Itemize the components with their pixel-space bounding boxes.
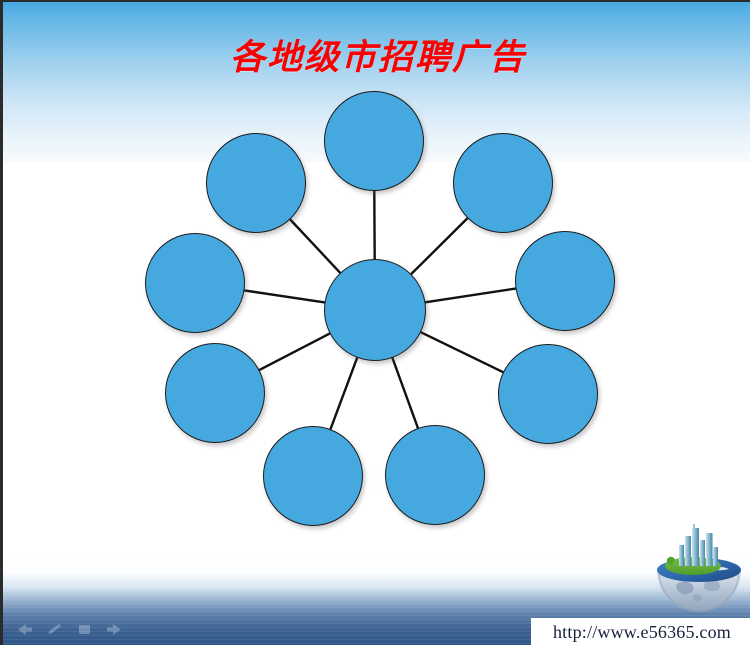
watermark-url: http://www.e56365.com (531, 618, 750, 645)
node-bottom-left[interactable] (263, 426, 363, 526)
node-bottom-right[interactable] (385, 425, 485, 525)
node-left[interactable] (145, 233, 245, 333)
link-center-to-node-upper-right (410, 218, 468, 275)
link-center-to-node-right (424, 288, 516, 302)
node-top[interactable] (324, 91, 424, 191)
radial-diagram (3, 2, 750, 645)
link-center-to-node-lower-left (258, 333, 330, 370)
node-right[interactable] (515, 231, 615, 331)
node-upper-left[interactable] (206, 133, 306, 233)
next-slide-button[interactable] (105, 622, 124, 637)
center-node[interactable] (324, 259, 426, 361)
link-center-to-node-bottom-left (330, 357, 357, 430)
link-center-to-node-left (243, 290, 325, 302)
link-center-to-node-bottom-right (392, 357, 418, 429)
node-lower-right[interactable] (498, 344, 598, 444)
node-upper-right[interactable] (453, 133, 553, 233)
slide-menu-button[interactable] (75, 622, 94, 637)
pen-tool-button[interactable] (45, 622, 64, 637)
node-lower-left[interactable] (165, 343, 265, 443)
presentation-slide: 各地级市招聘广告 (0, 0, 750, 645)
globe-city-logo (649, 518, 749, 618)
link-center-to-node-lower-right (420, 332, 504, 373)
slideshow-controls[interactable] (15, 622, 124, 637)
link-center-to-node-upper-left (290, 219, 341, 274)
previous-slide-button[interactable] (15, 622, 34, 637)
